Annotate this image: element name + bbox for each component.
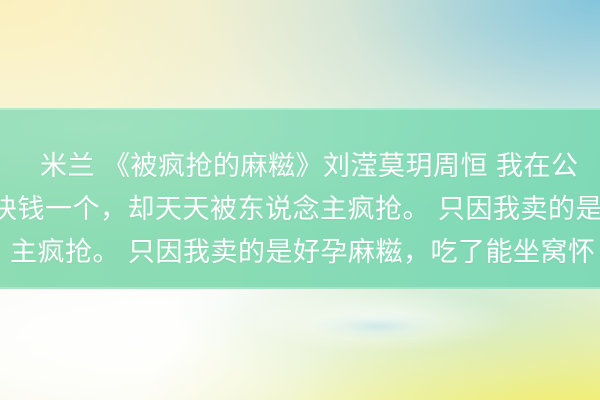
subtitle-line-1: 米兰 《被疯抢的麻糍》刘滢莫玥周恒 我在公 [40, 153, 579, 180]
subtitle-band: 米兰 《被疯抢的麻糍》刘滢莫玥周恒 我在公 块钱一个，却天天被东说念主疯抢。 只… [0, 108, 600, 289]
background-cloud-accent [312, 312, 444, 340]
subtitle-line-3: 主疯抢。 只因我卖的是好孕麻糍，吃了能坐窝怀 [10, 239, 596, 266]
subtitle-line-2: 块钱一个，却天天被东说念主疯抢。 只因我卖的是好 [0, 196, 600, 223]
subtitle-text-block: 米兰 《被疯抢的麻糍》刘滢莫玥周恒 我在公 块钱一个，却天天被东说念主疯抢。 只… [0, 108, 600, 289]
subtitle-band-bottom-edge [0, 287, 600, 289]
screenshot-canvas: 米兰 《被疯抢的麻糍》刘滢莫玥周恒 我在公 块钱一个，却天天被东说念主疯抢。 只… [0, 0, 600, 400]
